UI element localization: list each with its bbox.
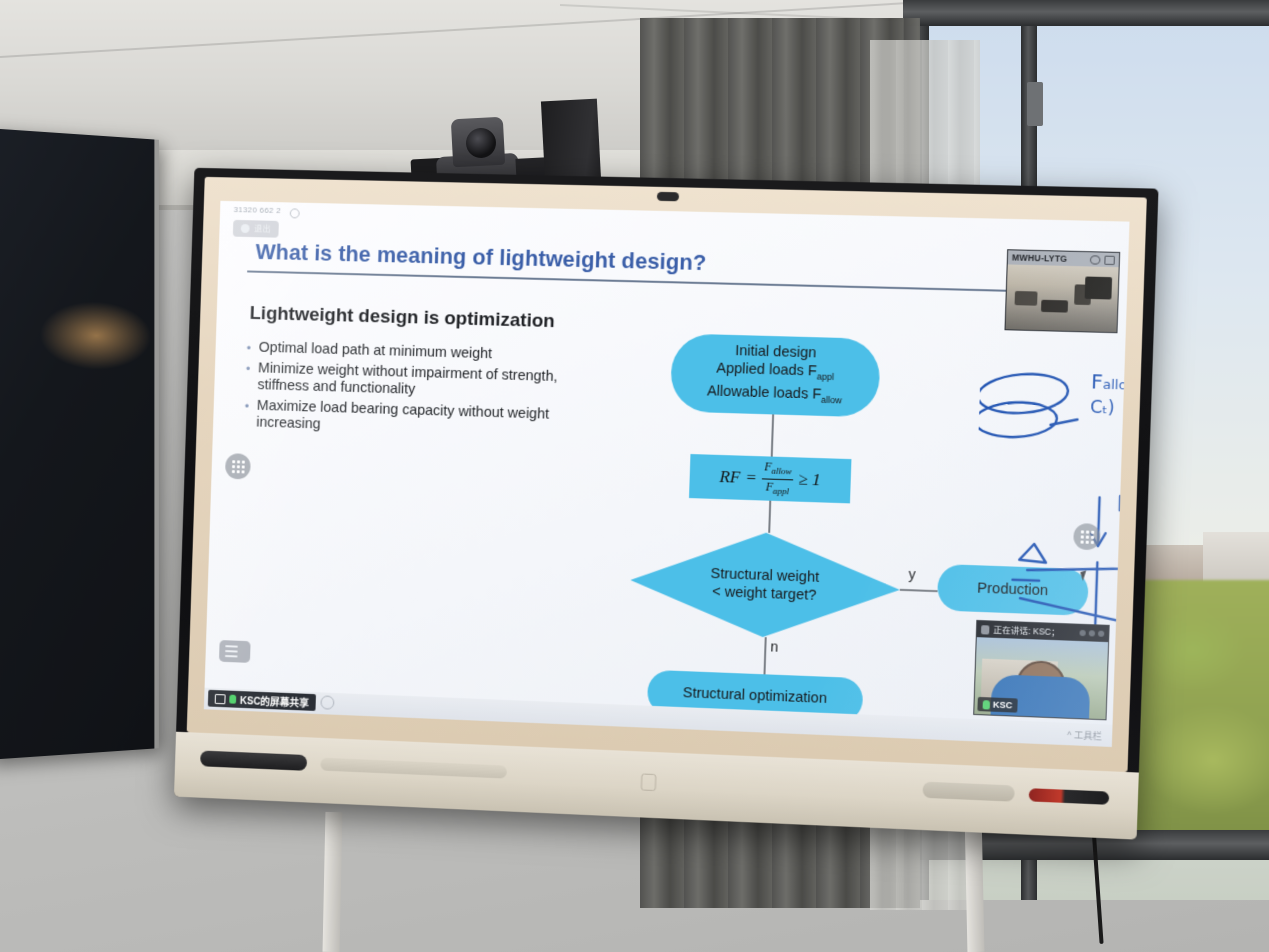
- initial-line-2: Applied loads Fappl: [716, 360, 834, 386]
- screen-icon[interactable]: [1104, 255, 1115, 264]
- chevron-up-icon: ^: [1067, 730, 1072, 740]
- monitor-icon: [215, 694, 226, 704]
- bullet-text: Maximize load bearing capacity without w…: [256, 397, 608, 442]
- classroom-photo: 31320 662 2 退出 What is the meaning of li…: [0, 0, 1269, 952]
- speaker-name-badge: KSC: [977, 697, 1017, 713]
- node-reserve-factor[interactable]: RF = Fallow Fappl ≥ 1: [689, 454, 851, 503]
- display-reflection: [39, 300, 151, 371]
- edge-label-yes: y: [908, 566, 916, 582]
- speaker-grille-left: [200, 750, 307, 770]
- app-grid-button[interactable]: [225, 453, 251, 479]
- node-production[interactable]: Production: [937, 564, 1089, 616]
- more-dot-icon: [1098, 631, 1104, 637]
- grid-icon: [1080, 530, 1094, 544]
- list-item: • Maximize load bearing capacity without…: [244, 397, 608, 443]
- list-line-icon: [225, 650, 238, 652]
- display-webcam-icon: [656, 192, 678, 201]
- rf-formula: RF = Fallow Fappl ≥ 1: [719, 459, 822, 498]
- stand-leg-left: [323, 812, 343, 952]
- room-object: [1041, 300, 1068, 313]
- slide-subtitle: Lightweight design is optimization: [249, 303, 555, 333]
- active-speaker-label: 正在讲话: KSC；: [993, 624, 1060, 639]
- edge-label-no: n: [770, 638, 778, 654]
- connector-decision-production: [900, 589, 938, 592]
- microphone-icon: [983, 700, 990, 709]
- search-icon[interactable]: [1090, 255, 1101, 264]
- wall-display-inactive: [0, 128, 159, 760]
- list-line-icon: [225, 645, 238, 647]
- exit-share-label: 退出: [254, 223, 271, 234]
- taskbar-circle-icon[interactable]: [320, 695, 334, 709]
- bullet-list: • Optimal load path at minimum weight • …: [244, 339, 610, 445]
- decision-line-2: < weight target?: [710, 583, 819, 605]
- exit-share-button[interactable]: 退出: [233, 220, 279, 238]
- connector-decision-optimization: [763, 637, 766, 674]
- mic-muted-icon: [981, 625, 989, 634]
- stylus-pen[interactable]: [1029, 788, 1110, 805]
- display-screen[interactable]: 31320 662 2 退出 What is the meaning of li…: [204, 201, 1130, 747]
- building-far-white: [1203, 532, 1269, 584]
- cloud-icon: [241, 224, 250, 233]
- speaker-grille-right: [922, 782, 1014, 802]
- record-dot-icon: [290, 208, 300, 218]
- connector-rf-decision: [768, 501, 771, 533]
- more-dot-icon: [1079, 630, 1085, 636]
- microphone-icon: [229, 695, 236, 704]
- window-handle[interactable]: [1027, 82, 1043, 126]
- stylus-tray: [320, 758, 507, 779]
- presentation-slide: 31320 662 2 退出 What is the meaning of li…: [204, 201, 1130, 747]
- initial-line-3: Allowable loads Fallow: [707, 382, 843, 409]
- speaker-video-feed: KSC: [974, 637, 1108, 719]
- page-title: What is the meaning of lightweight desig…: [255, 239, 707, 276]
- bullet-dot-icon: •: [244, 397, 250, 432]
- node-weight-decision[interactable]: Structural weight < weight target?: [629, 528, 902, 642]
- screen-share-indicator[interactable]: KSC的屏幕共享: [208, 690, 316, 711]
- window-frame-top: [903, 0, 1269, 26]
- bullet-dot-icon: •: [245, 360, 251, 395]
- toolbar-label: 工具栏: [1074, 730, 1102, 741]
- bullet-dot-icon: •: [246, 339, 251, 356]
- toolbar-toggle[interactable]: ^ 工具栏: [1067, 728, 1102, 743]
- power-button[interactable]: [640, 773, 656, 791]
- video-tile-name: MWHU-LYTG: [1012, 252, 1068, 263]
- node-initial-design[interactable]: Initial design Applied loads Fappl Allow…: [670, 333, 881, 417]
- initial-line-1: Initial design: [735, 342, 817, 362]
- screen-share-label: KSC的屏幕共享: [240, 692, 310, 710]
- menu-list-button[interactable]: [219, 640, 251, 663]
- room-object: [1085, 277, 1113, 300]
- stand-leg-right: [965, 812, 985, 952]
- connector-initial-rf: [771, 414, 774, 456]
- more-dot-icon: [1089, 630, 1095, 636]
- speaker-badge-label: KSC: [993, 700, 1013, 711]
- room-object: [1015, 291, 1038, 306]
- video-tile-active-speaker[interactable]: 正在讲话: KSC；: [973, 620, 1110, 720]
- topbar-code: 31320 662 2: [234, 205, 282, 215]
- video-tile-feed: [1006, 264, 1119, 332]
- grid-icon: [231, 460, 244, 473]
- interactive-whiteboard-display: 31320 662 2 退出 What is the meaning of li…: [174, 168, 1159, 840]
- video-tile-remote-room[interactable]: MWHU-LYTG: [1004, 249, 1120, 333]
- list-line-icon: [225, 655, 238, 657]
